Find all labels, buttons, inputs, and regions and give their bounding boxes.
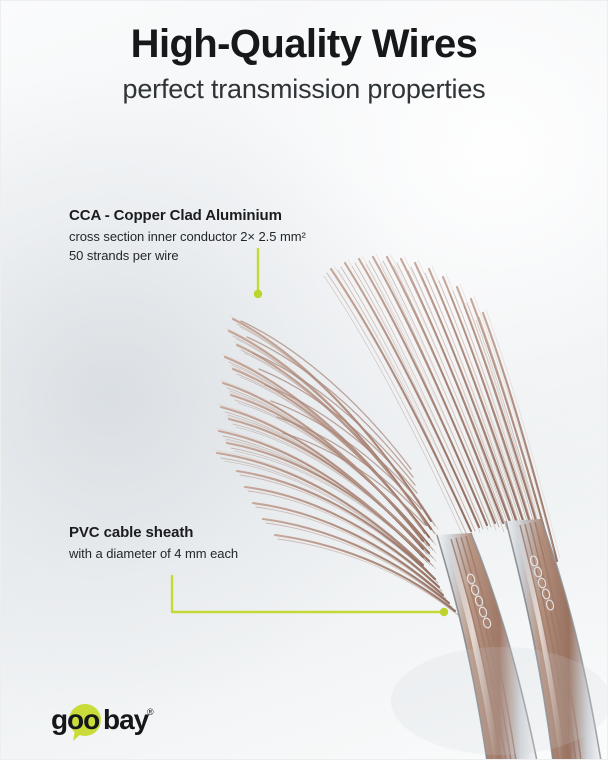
leader-line-pvc — [1, 1, 608, 760]
trademark-symbol: ® — [147, 707, 154, 717]
goobay-logo: g oo bay ® — [51, 703, 171, 745]
svg-text:g: g — [51, 704, 67, 735]
svg-text:bay: bay — [103, 704, 150, 735]
svg-text:oo: oo — [67, 704, 100, 735]
infographic-poster: High-Quality Wires perfect transmission … — [0, 0, 608, 760]
